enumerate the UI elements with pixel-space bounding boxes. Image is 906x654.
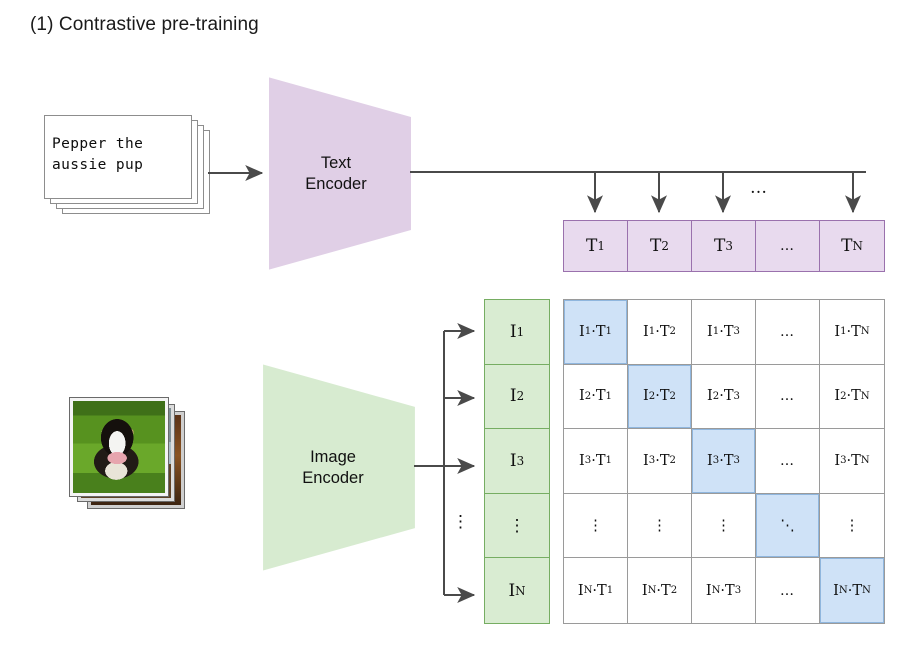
text-embedding-cell: T3 (692, 221, 756, 271)
image-bus-ellipsis: ⋮ (452, 512, 469, 532)
similarity-cell: … (756, 429, 820, 494)
similarity-cell: IN·TN (820, 558, 884, 623)
similarity-cell: IN·T2 (628, 558, 692, 623)
image-embedding-cell: I1 (485, 300, 549, 365)
similarity-cell: I2·T1 (564, 365, 628, 430)
similarity-cell: I3·T2 (628, 429, 692, 494)
similarity-cell: IN·T3 (692, 558, 756, 623)
similarity-cell: I3·T3 (692, 429, 756, 494)
text-embedding-cell: T2 (628, 221, 692, 271)
caption-line-2: aussie pup (52, 155, 188, 176)
similarity-cell: I3·T1 (564, 429, 628, 494)
t-row-bus-ellipsis: … (750, 178, 767, 198)
similarity-cell: ⋱ (756, 494, 820, 559)
text-embedding-cell: T1 (564, 221, 628, 271)
caption-text: Pepper the aussie pup (52, 134, 188, 176)
similarity-cell: I2·TN (820, 365, 884, 430)
similarity-cell: I1·T3 (692, 300, 756, 365)
diagram-canvas: (1) Contrastive pre-training Pepper the … (0, 0, 906, 654)
similarity-cell: I1·T1 (564, 300, 628, 365)
caption-line-1: Pepper the (52, 134, 188, 155)
similarity-matrix: I1·T1I1·T2I1·T3…I1·TNI2·T1I2·T2I2·T3…I2·… (563, 299, 885, 624)
similarity-cell: ⋮ (820, 494, 884, 559)
image-embedding-cell: IN (485, 558, 549, 623)
similarity-cell: I2·T2 (628, 365, 692, 430)
text-embedding-row: T1T2T3…TN (563, 220, 885, 272)
text-embedding-cell: … (756, 221, 820, 271)
similarity-cell: … (756, 558, 820, 623)
similarity-cell: … (756, 365, 820, 430)
image-embedding-cell: ⋮ (485, 494, 549, 559)
similarity-cell: ⋮ (692, 494, 756, 559)
similarity-cell: ⋮ (564, 494, 628, 559)
similarity-cell: I2·T3 (692, 365, 756, 430)
similarity-cell: ⋮ (628, 494, 692, 559)
image-embedding-column: I1I2I3⋮IN (484, 299, 550, 624)
similarity-cell: IN·T1 (564, 558, 628, 623)
similarity-cell: I3·TN (820, 429, 884, 494)
similarity-cell: I1·TN (820, 300, 884, 365)
photo-stack-front-puppy (70, 398, 168, 496)
text-embedding-cell: TN (820, 221, 884, 271)
image-embedding-cell: I2 (485, 365, 549, 430)
similarity-cell: I1·T2 (628, 300, 692, 365)
image-embedding-cell: I3 (485, 429, 549, 494)
similarity-cell: … (756, 300, 820, 365)
